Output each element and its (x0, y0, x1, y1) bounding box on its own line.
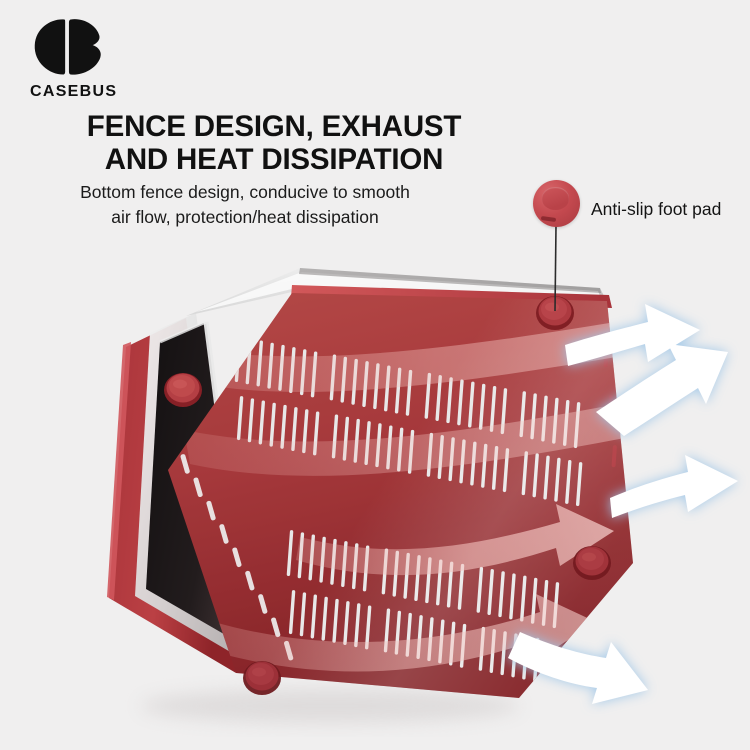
brand-wordmark: CASEBUS (30, 84, 190, 100)
page-subtitle: Bottom fence design, conducive to smooth… (30, 180, 460, 230)
foot-pad (243, 661, 281, 695)
callout-leader-line (555, 226, 556, 311)
casebus-logo-icon (30, 16, 106, 78)
headline-line-2: AND HEAT DISSIPATION (64, 143, 484, 176)
subhead-line-1: Bottom fence design, conducive to smooth (80, 182, 410, 202)
ground-shadow (140, 689, 520, 723)
page-title: FENCE DESIGN, EXHAUST AND HEAT DISSIPATI… (64, 110, 484, 176)
foot-pad-icon (533, 180, 580, 227)
callout-label: Anti-slip foot pad (591, 199, 721, 220)
airflow-arrow (508, 632, 648, 704)
foot-pad (573, 546, 611, 580)
foot-pad-notch (541, 216, 556, 222)
headline-line-1: FENCE DESIGN, EXHAUST (87, 110, 461, 143)
airflow-arrow (610, 455, 738, 518)
brand-lockup: CASEBUS (30, 16, 190, 100)
product-feature-banner: CASEBUS FENCE DESIGN, EXHAUST AND HEAT D… (0, 0, 750, 750)
subhead-line-2: air flow, protection/heat dissipation (111, 207, 379, 227)
foot-pad (164, 373, 202, 407)
